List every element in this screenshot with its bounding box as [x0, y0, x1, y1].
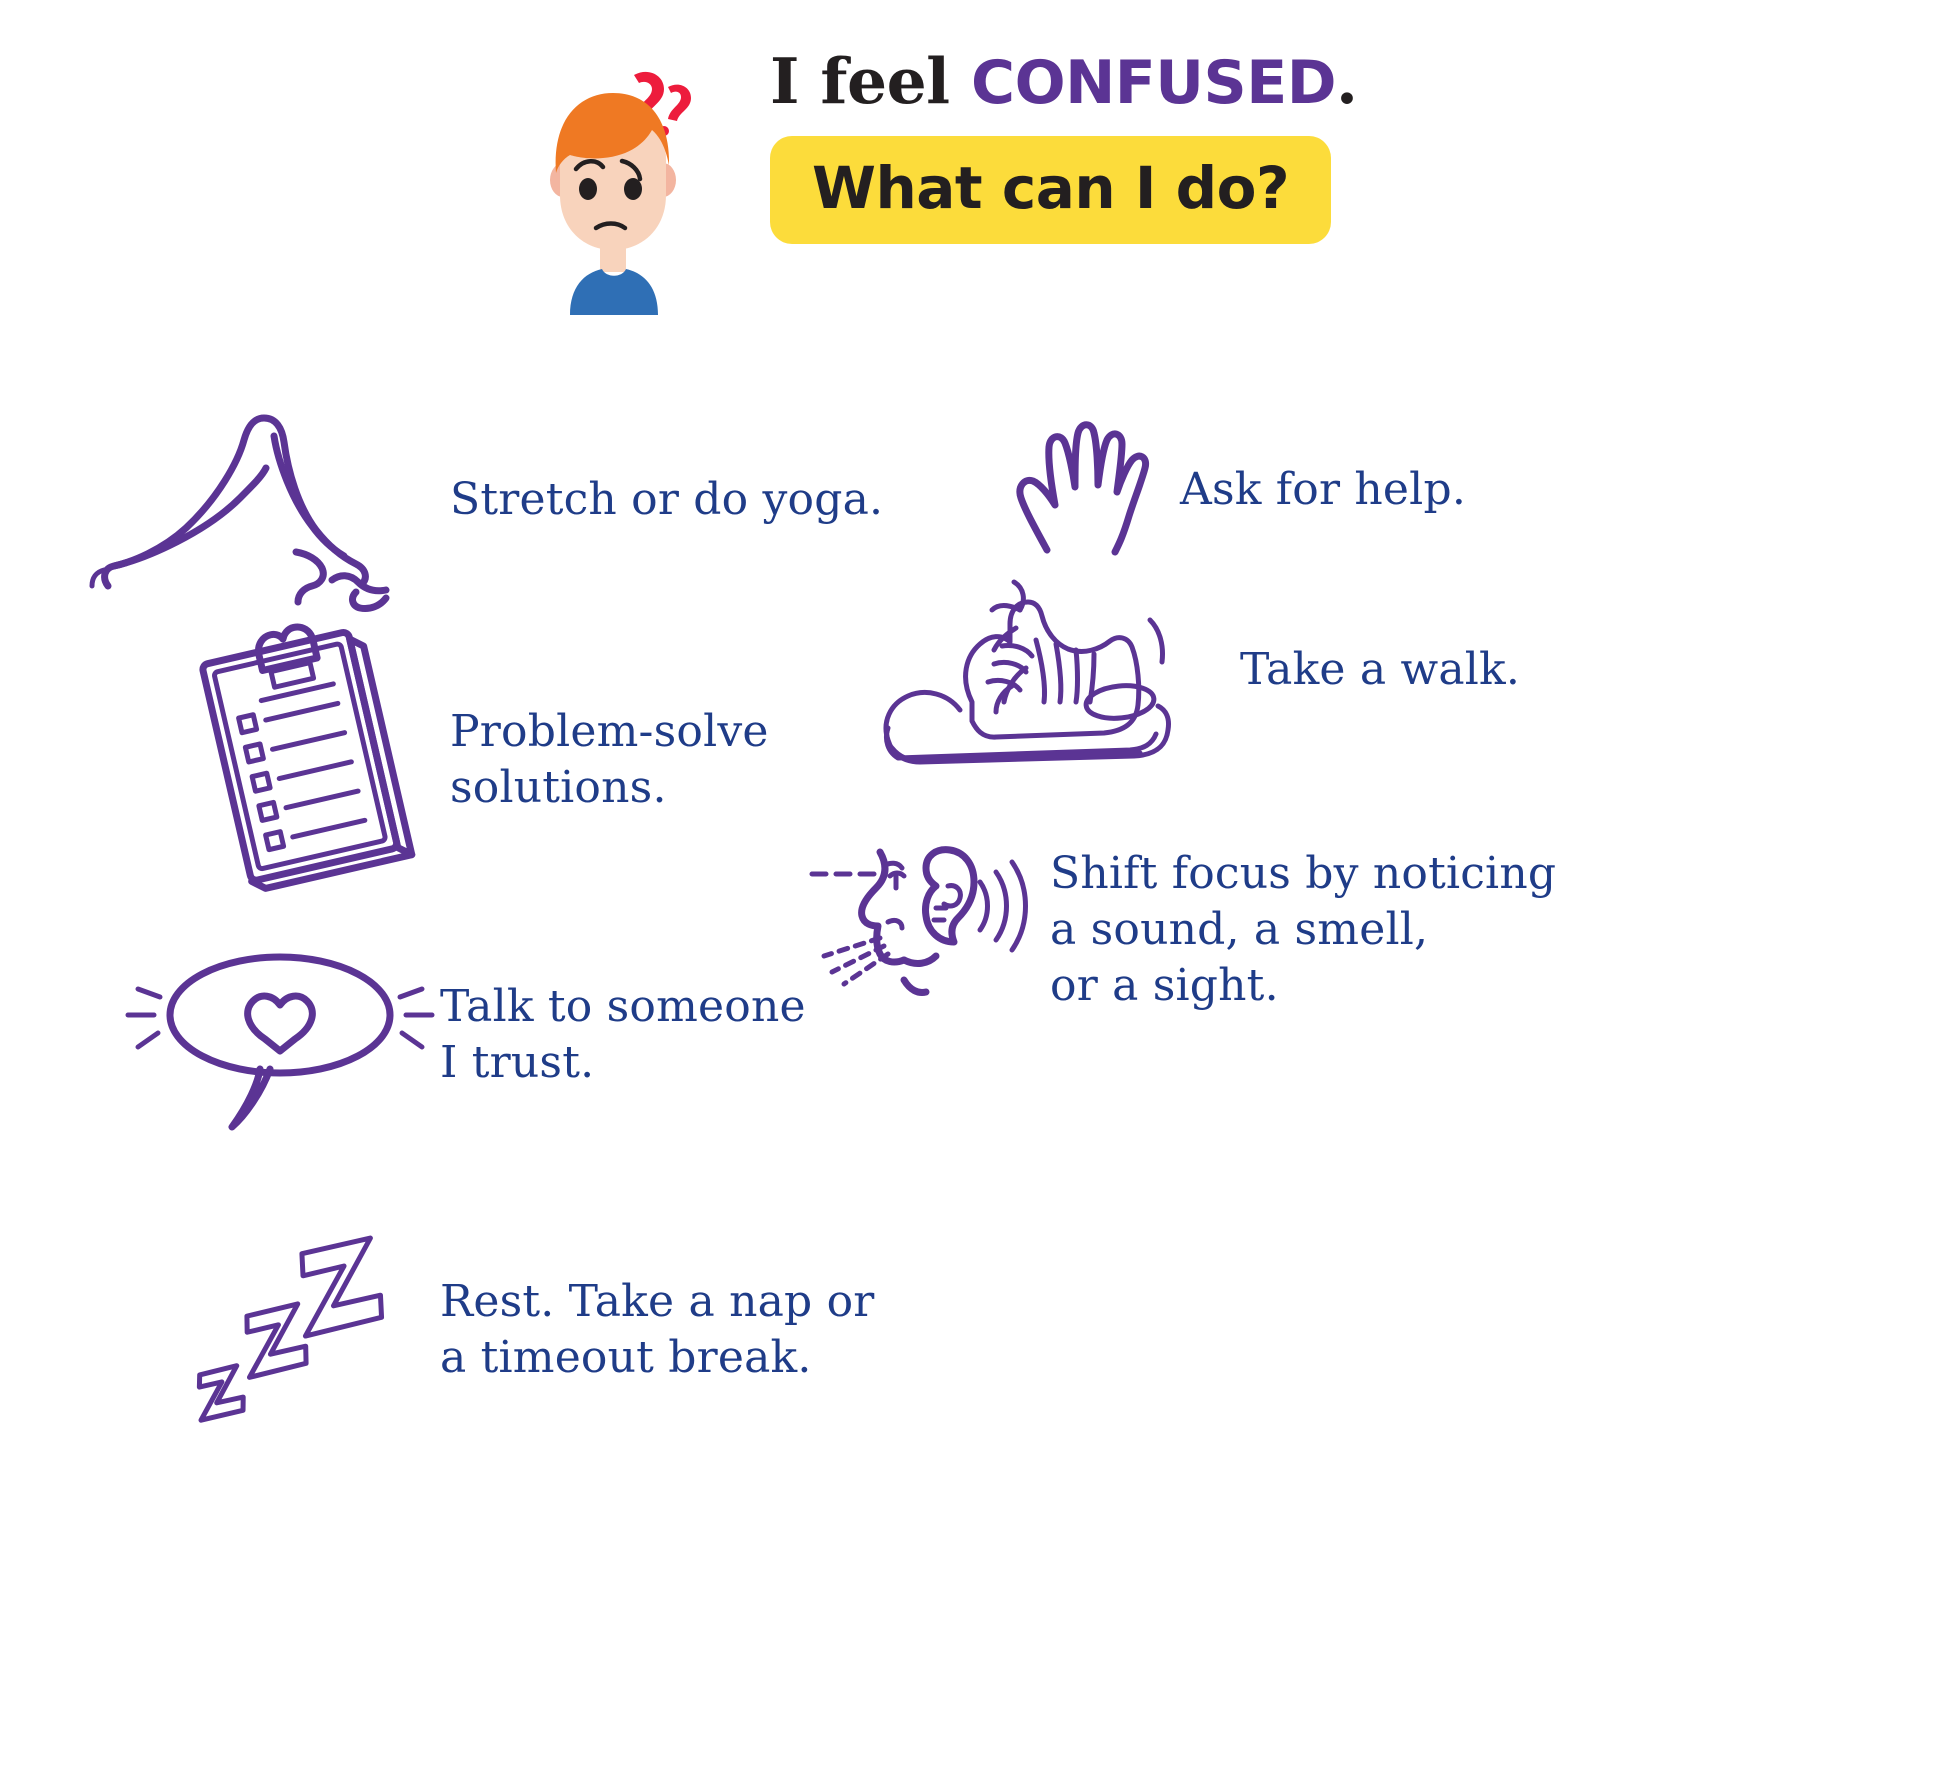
tip-label: Shift focus by noticing a sound, a smell…: [1050, 846, 1556, 1015]
sleep-zzz-icon: [170, 1230, 440, 1430]
tip-label: Rest. Take a nap or a timeout break.: [440, 1274, 875, 1387]
title-period: .: [1336, 44, 1357, 118]
face-ear-senses-icon: [810, 830, 1050, 1030]
tip-item-shift-focus[interactable]: Shift focus by noticing a sound, a smell…: [810, 830, 1556, 1030]
tip-label: Stretch or do yoga.: [450, 472, 883, 528]
tip-item-talk[interactable]: Talk to someone I trust.: [120, 945, 806, 1125]
speech-bubble-heart-icon: [120, 945, 440, 1125]
confused-boy-avatar: [530, 65, 705, 315]
clipboard-list-icon: [180, 620, 450, 900]
header: I feel CONFUSED. What can I do?: [530, 45, 1630, 315]
tip-label: Problem-solve solutions.: [450, 704, 769, 817]
question-text: What can I do?: [812, 154, 1289, 222]
header-text-block: I feel CONFUSED. What can I do?: [770, 45, 1620, 244]
tip-label: Talk to someone I trust.: [440, 979, 806, 1092]
question-badge: What can I do?: [770, 136, 1331, 244]
tip-item-ask-help[interactable]: Ask for help.: [1000, 400, 1466, 580]
tip-item-walk[interactable]: Take a walk.: [820, 580, 1520, 760]
tip-label: Ask for help.: [1180, 462, 1466, 518]
tip-item-rest[interactable]: Rest. Take a nap or a timeout break.: [170, 1230, 875, 1430]
tip-item-problem-solve[interactable]: Problem-solve solutions.: [180, 620, 769, 900]
raised-hand-icon: [1000, 400, 1180, 580]
emotion-word: CONFUSED: [971, 48, 1336, 118]
sneaker-shoe-icon: [820, 580, 1240, 760]
tip-item-yoga[interactable]: Stretch or do yoga.: [60, 390, 883, 610]
yoga-pose-icon: [60, 390, 450, 610]
title-prefix: I feel: [770, 44, 971, 118]
tip-label: Take a walk.: [1240, 642, 1520, 698]
page-title: I feel CONFUSED.: [770, 45, 1620, 118]
